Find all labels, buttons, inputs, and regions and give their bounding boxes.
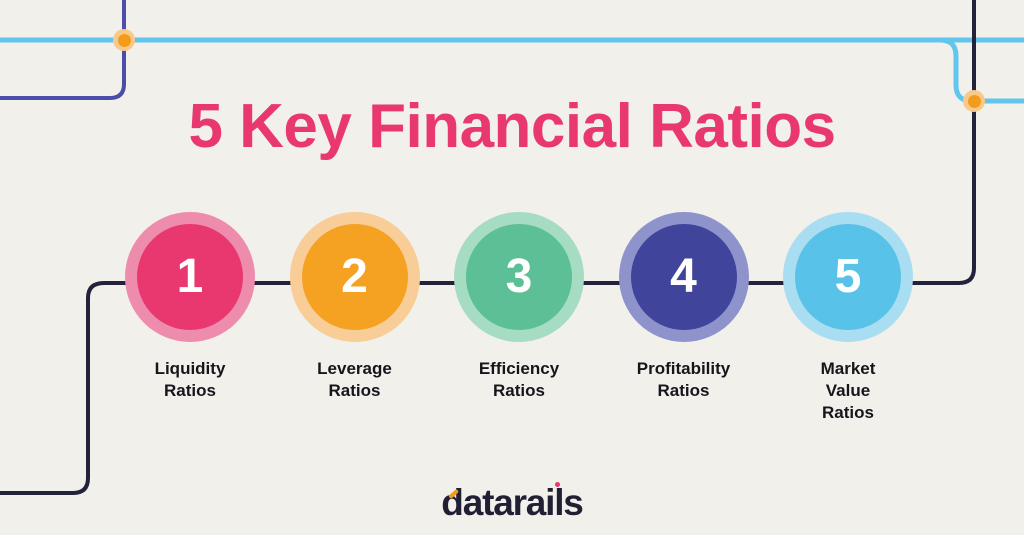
step-circle-inner-5: 5 <box>795 224 901 330</box>
page-title: 5 Key Financial Ratios <box>0 96 1024 158</box>
step-number-3: 3 <box>506 253 533 301</box>
step-label-5: Market Value Ratios <box>821 358 876 424</box>
step-circle-inner-1: 1 <box>137 224 243 330</box>
step-label-2: Leverage Ratios <box>317 358 392 402</box>
step-number-5: 5 <box>835 253 862 301</box>
logo-dot-accent-icon <box>555 482 560 487</box>
step-item-3[interactable]: 3 Efficiency Ratios <box>443 212 595 402</box>
indigo-line-top-left <box>0 0 124 98</box>
brand-logo-text: datarails <box>441 484 582 521</box>
brand-logo-wordmark: datarails <box>441 482 582 523</box>
step-item-1[interactable]: 1 Liquidity Ratios <box>114 212 266 402</box>
junction-dot-icon-top-left <box>113 29 135 51</box>
step-item-5[interactable]: 5 Market Value Ratios <box>772 212 924 424</box>
step-number-1: 1 <box>177 253 204 301</box>
step-item-2[interactable]: 2 Leverage Ratios <box>279 212 431 402</box>
light-blue-line-right <box>900 40 1024 101</box>
brand-logo[interactable]: datarails <box>0 484 1024 521</box>
step-circle-outer-1: 1 <box>125 212 255 342</box>
step-item-4[interactable]: 4 Profitability Ratios <box>608 212 760 402</box>
step-number-4: 4 <box>670 253 697 301</box>
step-circle-inner-3: 3 <box>466 224 572 330</box>
step-circle-inner-2: 2 <box>302 224 408 330</box>
step-label-3: Efficiency Ratios <box>479 358 559 402</box>
step-circle-inner-4: 4 <box>631 224 737 330</box>
steps-row: 1 Liquidity Ratios 2 Leverage Ratios 3 E… <box>114 212 924 424</box>
step-circle-outer-3: 3 <box>454 212 584 342</box>
step-label-4: Profitability Ratios <box>637 358 731 402</box>
step-circle-outer-4: 4 <box>619 212 749 342</box>
infographic-canvas: 5 Key Financial Ratios 1 Liquidity Ratio… <box>0 0 1024 535</box>
step-circle-outer-5: 5 <box>783 212 913 342</box>
step-number-2: 2 <box>341 253 368 301</box>
step-circle-outer-2: 2 <box>290 212 420 342</box>
step-label-1: Liquidity Ratios <box>155 358 226 402</box>
